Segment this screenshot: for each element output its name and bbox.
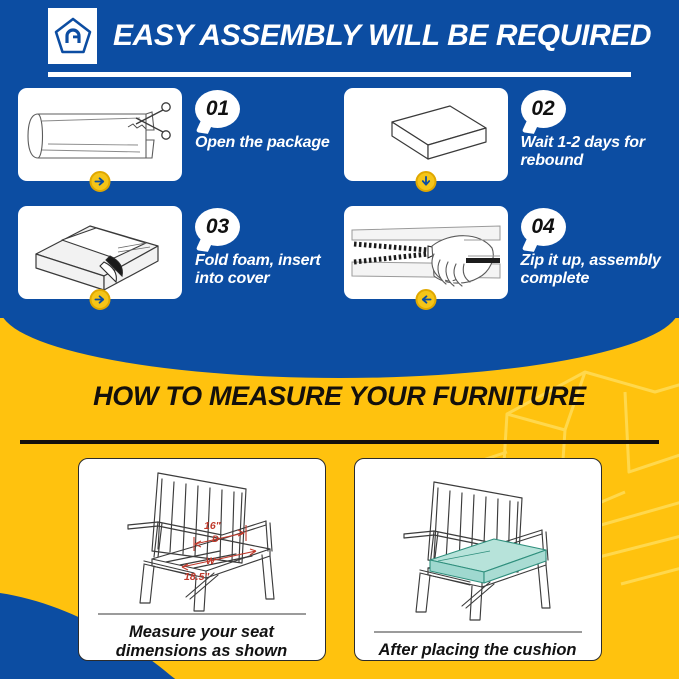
step-03-card bbox=[18, 206, 182, 299]
step-03-text: 03 Fold foam, insert into cover bbox=[195, 206, 336, 288]
width-value-label: 18.5" bbox=[184, 571, 210, 583]
width-letter-label: W bbox=[206, 556, 216, 567]
foam-into-cover-icon bbox=[18, 206, 182, 299]
arrow-right-icon bbox=[95, 176, 106, 187]
step-02-number: 02 bbox=[521, 90, 566, 128]
step-02-arrow-badge bbox=[415, 171, 436, 192]
step-02-label: Wait 1-2 days for rebound bbox=[521, 134, 662, 170]
flat-foam-cushion-icon bbox=[344, 88, 508, 181]
step-03-arrow-badge bbox=[90, 289, 111, 310]
assembly-section: EASY ASSEMBLY WILL BE REQUIRED bbox=[0, 0, 679, 378]
assembly-header: EASY ASSEMBLY WILL BE REQUIRED bbox=[0, 0, 679, 72]
step-02-card bbox=[344, 88, 508, 181]
measure-panels: 16" D W 18.5" Measure your seat dimensio… bbox=[0, 458, 679, 661]
measure-panel-2-art bbox=[355, 459, 601, 631]
arrow-right-icon bbox=[95, 294, 106, 305]
panel-2-caption: After placing the cushion bbox=[355, 633, 601, 660]
assembly-step-04: 04 Zip it up, assembly complete bbox=[340, 206, 666, 324]
rolled-package-with-scissors-icon bbox=[18, 88, 182, 181]
step-01-text: 01 Open the package bbox=[195, 88, 336, 152]
arrow-left-icon bbox=[420, 294, 431, 305]
step-04-arrow-badge bbox=[415, 289, 436, 310]
assembly-step-03: 03 Fold foam, insert into cover bbox=[14, 206, 340, 324]
arrow-down-icon bbox=[420, 176, 431, 187]
assembly-step-02: 02 Wait 1-2 days for rebound bbox=[340, 88, 666, 206]
hand-zipping-cushion-icon bbox=[344, 206, 508, 299]
depth-value-label: 16" bbox=[204, 520, 222, 532]
step-04-number: 04 bbox=[521, 208, 566, 246]
chair-with-dimensions-icon: 16" D W 18.5" bbox=[94, 463, 310, 613]
measure-divider bbox=[20, 440, 659, 444]
step-04-text: 04 Zip it up, assembly complete bbox=[521, 206, 662, 288]
zipper-teeth bbox=[354, 244, 428, 262]
brand-logo bbox=[48, 8, 97, 64]
measure-panel-1-art: 16" D W 18.5" bbox=[79, 459, 325, 613]
depth-letter-label: D bbox=[212, 534, 219, 545]
pentagon-house-icon bbox=[54, 16, 92, 56]
chair-with-cushion-icon bbox=[370, 472, 586, 622]
infographic-root: EASY ASSEMBLY WILL BE REQUIRED bbox=[0, 0, 679, 679]
assembly-steps-grid: 01 Open the package bbox=[0, 88, 679, 324]
step-01-card bbox=[18, 88, 182, 181]
step-02-text: 02 Wait 1-2 days for rebound bbox=[521, 88, 662, 170]
step-04-card bbox=[344, 206, 508, 299]
step-01-arrow-badge bbox=[90, 171, 111, 192]
panel-1-caption: Measure your seat dimensions as shown bbox=[79, 615, 325, 661]
measure-panel-cushion: After placing the cushion bbox=[354, 458, 602, 661]
step-03-number: 03 bbox=[195, 208, 240, 246]
page-title: EASY ASSEMBLY WILL BE REQUIRED bbox=[113, 19, 651, 53]
header-divider bbox=[48, 72, 631, 77]
measure-section-title: HOW TO MEASURE YOUR FURNITURE bbox=[0, 381, 679, 412]
step-03-label: Fold foam, insert into cover bbox=[195, 252, 336, 288]
measure-panel-dimensions: 16" D W 18.5" Measure your seat dimensio… bbox=[78, 458, 326, 661]
step-01-label: Open the package bbox=[195, 134, 336, 152]
step-01-number: 01 bbox=[195, 90, 240, 128]
assembly-step-01: 01 Open the package bbox=[14, 88, 340, 206]
step-04-label: Zip it up, assembly complete bbox=[521, 252, 662, 288]
